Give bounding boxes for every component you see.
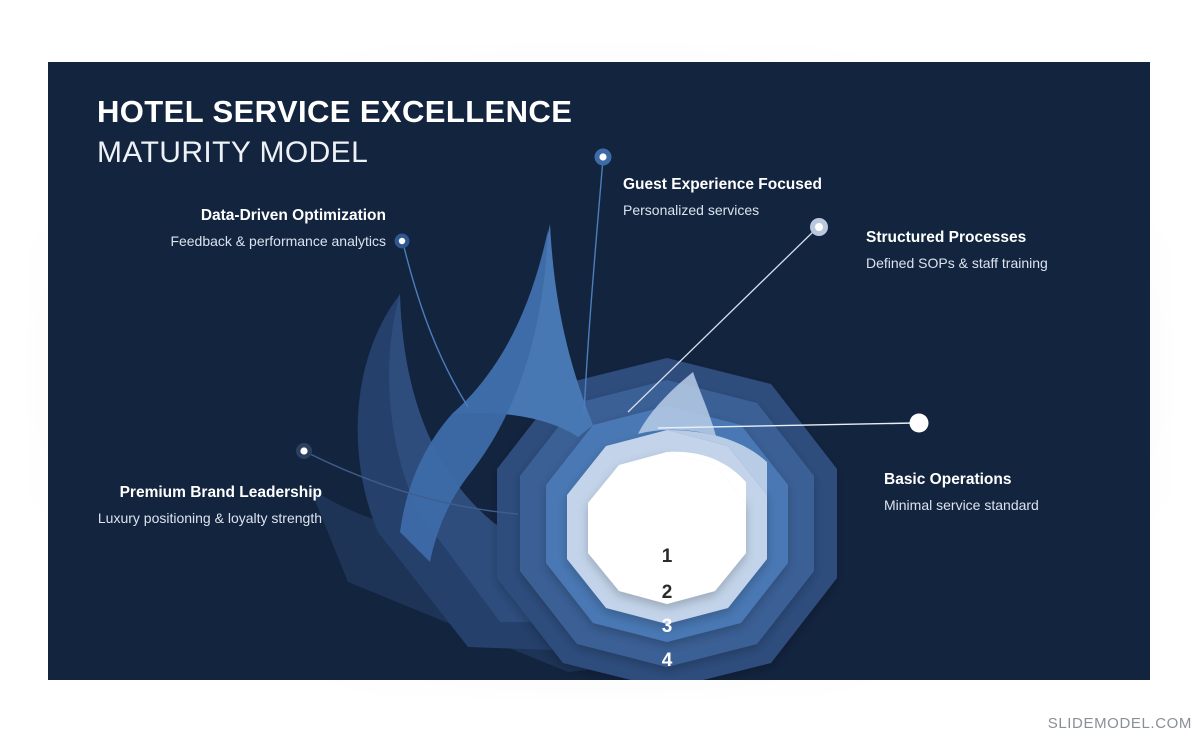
callout-title: Guest Experience Focused [623,176,822,195]
callout-subtitle: Defined SOPs & staff training [866,254,1056,274]
title-line-primary: HOTEL SERVICE EXCELLENCE [97,96,572,127]
callout-basic-operations[interactable]: Basic Operations Minimal service standar… [884,471,1074,515]
level-number-3: 3 [662,616,673,637]
title-line-secondary: MATURITY MODEL [97,138,572,168]
callout-subtitle: Luxury positioning & loyalty strength [48,509,322,529]
slide-frame: 1 2 3 4 5 [48,62,1150,680]
callout-subtitle: Personalized services [623,201,822,221]
callout-title: Basic Operations [884,471,1074,490]
page-canvas: 1 2 3 4 5 [0,0,1200,743]
callout-subtitle: Feedback & performance analytics [76,232,386,252]
connector-dot-guest[interactable] [595,149,612,166]
connector-dot-structured[interactable] [810,218,828,236]
callout-title: Premium Brand Leadership [48,484,322,503]
callout-guest-experience[interactable]: Guest Experience Focused Personalized se… [623,176,822,220]
level-number-4: 4 [662,650,673,671]
connector-dot-data[interactable] [395,234,410,249]
connector-dot-basic[interactable] [910,414,929,433]
level-number-1: 1 [662,546,673,567]
footer-watermark: SLIDEMODEL.COM [1048,715,1192,732]
page-title: HOTEL SERVICE EXCELLENCE MATURITY MODEL [97,96,572,168]
callout-title: Structured Processes [866,229,1056,248]
level-number-2: 2 [662,582,673,603]
callout-title: Data-Driven Optimization [76,207,386,226]
callout-structured-processes[interactable]: Structured Processes Defined SOPs & staf… [866,229,1056,273]
callout-data-driven-optimization[interactable]: Data-Driven Optimization Feedback & perf… [76,207,386,251]
connector-dot-premium[interactable] [296,443,312,459]
callout-premium-brand-leadership[interactable]: Premium Brand Leadership Luxury position… [48,484,322,528]
callout-subtitle: Minimal service standard [884,496,1074,516]
connector-line-data [403,243,468,407]
